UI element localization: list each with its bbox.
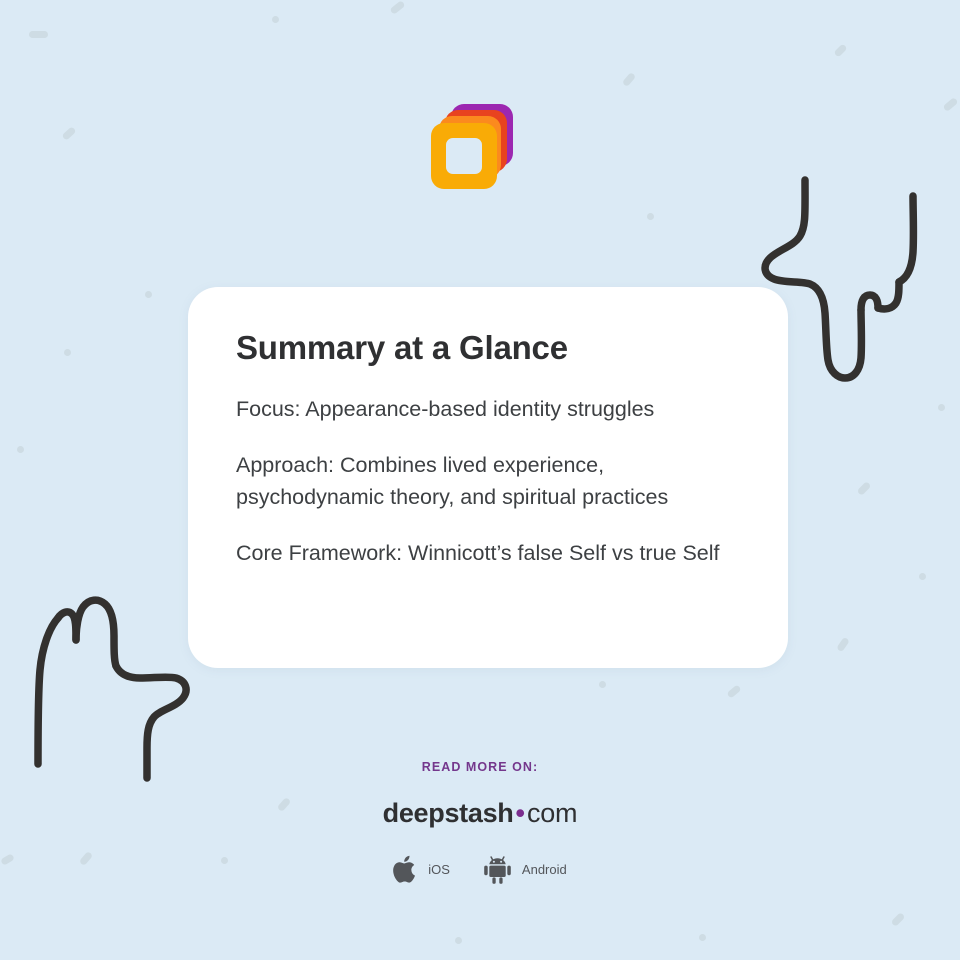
store-label-ios: iOS — [428, 862, 450, 877]
confetti-speck — [389, 0, 405, 15]
confetti-speck — [938, 404, 945, 411]
confetti-speck — [833, 43, 847, 57]
confetti-speck — [17, 446, 24, 453]
confetti-speck — [726, 684, 741, 698]
brand-dot-icon: • — [513, 798, 526, 828]
store-badge-android[interactable]: Android — [482, 854, 567, 885]
confetti-speck — [145, 291, 152, 298]
brand-tld: com — [527, 798, 577, 828]
confetti-speck — [943, 97, 959, 112]
brand-name: deepstash — [383, 798, 514, 828]
confetti-speck — [61, 126, 76, 141]
store-badge-ios[interactable]: iOS — [393, 854, 450, 885]
summary-line-framework: Core Framework: Winnicott’s false Self v… — [236, 537, 740, 570]
android-icon — [482, 854, 513, 885]
summary-line-approach: Approach: Combines lived experience, psy… — [236, 449, 740, 514]
confetti-speck — [29, 31, 48, 38]
confetti-speck — [836, 637, 850, 652]
confetti-speck — [919, 573, 926, 580]
page-title: Summary at a Glance — [236, 329, 740, 367]
summary-card-content: Summary at a Glance Focus: Appearance-ba… — [188, 287, 788, 570]
store-badges: iOS And — [0, 854, 960, 885]
confetti-speck — [272, 16, 279, 23]
apple-icon — [393, 854, 419, 885]
confetti-speck — [647, 213, 654, 220]
store-label-android: Android — [522, 862, 567, 877]
confetti-speck — [891, 912, 906, 927]
confetti-speck — [857, 481, 872, 496]
poster-canvas: Summary at a Glance Focus: Appearance-ba… — [0, 0, 960, 960]
summary-card: Summary at a Glance Focus: Appearance-ba… — [188, 287, 788, 668]
confetti-speck — [622, 72, 636, 87]
confetti-speck — [599, 681, 606, 688]
pointing-hand-icon-bottom-left — [16, 552, 206, 782]
brand-wordmark[interactable]: deepstash•com — [0, 800, 960, 827]
confetti-speck — [699, 934, 706, 941]
summary-line-focus: Focus: Appearance-based identity struggl… — [236, 393, 740, 426]
confetti-speck — [64, 349, 71, 356]
read-more-label: READ MORE ON: — [0, 760, 960, 774]
footer: READ MORE ON: deepstash•com iOS — [0, 760, 960, 885]
deepstash-logo — [425, 100, 525, 200]
logo-center-cutout — [446, 138, 482, 174]
confetti-speck — [455, 937, 462, 944]
